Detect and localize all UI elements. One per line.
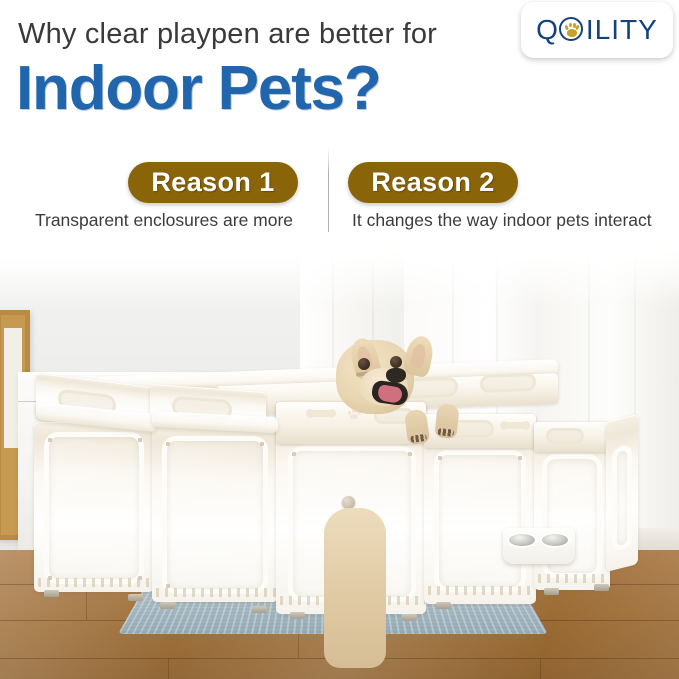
logo-text-after: ILITY bbox=[586, 14, 658, 46]
dog-paw-left bbox=[404, 409, 431, 446]
paw-print-icon bbox=[559, 16, 586, 44]
water-bowl bbox=[540, 532, 570, 548]
bowl-holder bbox=[503, 528, 575, 564]
clear-window bbox=[434, 450, 526, 592]
french-bulldog bbox=[314, 318, 444, 488]
reason-1-badge: Reason 1 bbox=[128, 162, 298, 203]
logo-wordmark: Q ILITY bbox=[536, 14, 658, 46]
dog-eye-right bbox=[390, 356, 402, 368]
dog-eye-left bbox=[358, 358, 370, 370]
brand-logo: Q ILITY bbox=[521, 2, 673, 58]
product-photo bbox=[0, 232, 679, 679]
food-bowl bbox=[507, 532, 537, 548]
dog-paw-right bbox=[434, 403, 459, 439]
logo-text-before: Q bbox=[536, 14, 559, 46]
clear-window bbox=[162, 436, 268, 594]
reason-2-badge-label: Reason 2 bbox=[371, 167, 494, 198]
dog-ear-right bbox=[402, 334, 436, 379]
dog-nose bbox=[386, 368, 406, 383]
dog-body bbox=[324, 508, 386, 668]
clear-window bbox=[612, 444, 632, 553]
reason-2-badge: Reason 2 bbox=[348, 162, 518, 203]
clear-window bbox=[44, 432, 144, 584]
infographic-page: Why clear playpen are better for Indoor … bbox=[0, 0, 679, 679]
kicker-text: Why clear playpen are better for bbox=[18, 17, 437, 51]
reason-1-badge-label: Reason 1 bbox=[151, 167, 274, 198]
page-title: Indoor Pets? bbox=[16, 54, 381, 124]
